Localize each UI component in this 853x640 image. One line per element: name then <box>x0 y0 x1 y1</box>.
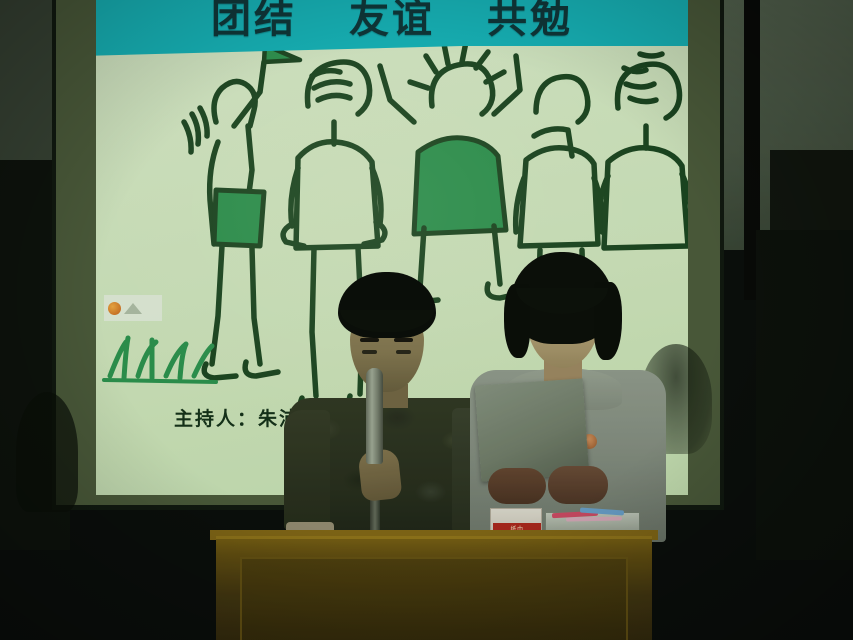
watermark-badge <box>104 295 162 321</box>
photo-scene: 主持人：朱沛 团结 友谊 共勉 <box>0 0 853 640</box>
right-blackboard <box>756 230 853 560</box>
podium <box>216 536 652 640</box>
slide-caption-text: 主持人：朱沛 <box>174 408 300 430</box>
slide-caption: 主持人：朱沛 <box>174 404 300 431</box>
female-host-left-hand <box>488 468 546 504</box>
podium-front-panel <box>240 557 628 640</box>
female-host-right-hand <box>548 466 608 504</box>
male-host <box>288 272 498 540</box>
male-host-left-arm <box>284 410 330 530</box>
triangle-icon <box>124 303 142 314</box>
microphone-icon <box>366 368 383 464</box>
orange-dot-icon <box>108 302 121 315</box>
slide-title-word-3: 共勉 <box>487 0 573 44</box>
slide-title-word-2: 友谊 <box>349 0 435 44</box>
grass-icon <box>104 338 216 382</box>
female-host <box>470 252 666 542</box>
foreground-head-shadow <box>16 392 78 512</box>
slide-title: 团结 友谊 共勉 <box>96 0 688 43</box>
slide-title-word-1: 团结 <box>211 0 297 44</box>
